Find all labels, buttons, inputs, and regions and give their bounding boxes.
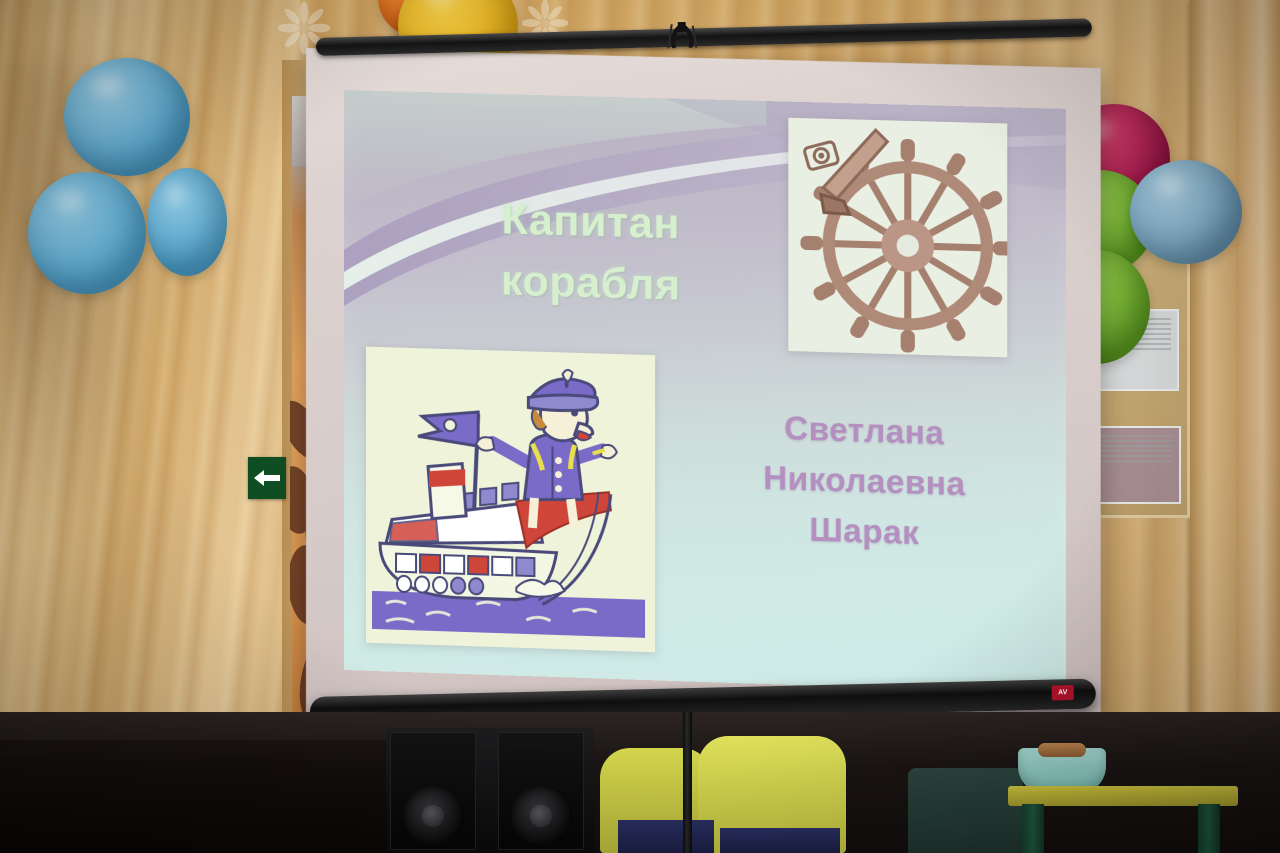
screen-hook-icon xyxy=(660,21,705,48)
slide-title-line2: корабля xyxy=(440,249,742,319)
table-leg xyxy=(1198,804,1220,853)
chair xyxy=(908,768,1023,853)
audience-person-legs xyxy=(720,828,840,853)
room-scene: Капитан корабля xyxy=(0,0,1280,853)
floor-shadow-left xyxy=(0,740,400,853)
table-top xyxy=(1008,786,1238,806)
screen-brand-badge: AV xyxy=(1052,685,1074,701)
presenter-name-line3: Шарак xyxy=(697,501,1031,562)
audience-person-legs xyxy=(618,820,714,853)
speaker-left xyxy=(390,732,476,850)
speaker-cone-icon xyxy=(402,785,464,847)
screen-tripod-pole xyxy=(683,712,692,853)
captain-ship-card xyxy=(366,347,655,653)
helm-wheel-card xyxy=(788,118,1007,358)
pa-speakers xyxy=(386,728,594,853)
speaker-cone-icon xyxy=(510,785,572,847)
ships-helm-wheel-icon xyxy=(788,118,1007,358)
cartoon-captain-ship-illustration xyxy=(366,347,655,653)
slide-title-line1: Капитан xyxy=(440,188,742,258)
speaker-right xyxy=(498,732,584,850)
slide-title: Капитан корабля xyxy=(440,188,742,319)
presenter-name: Светлана Николаевна Шарак xyxy=(697,401,1031,563)
table xyxy=(1008,786,1238,853)
table-leg xyxy=(1022,804,1044,853)
projected-slide: Капитан корабля xyxy=(344,90,1066,694)
